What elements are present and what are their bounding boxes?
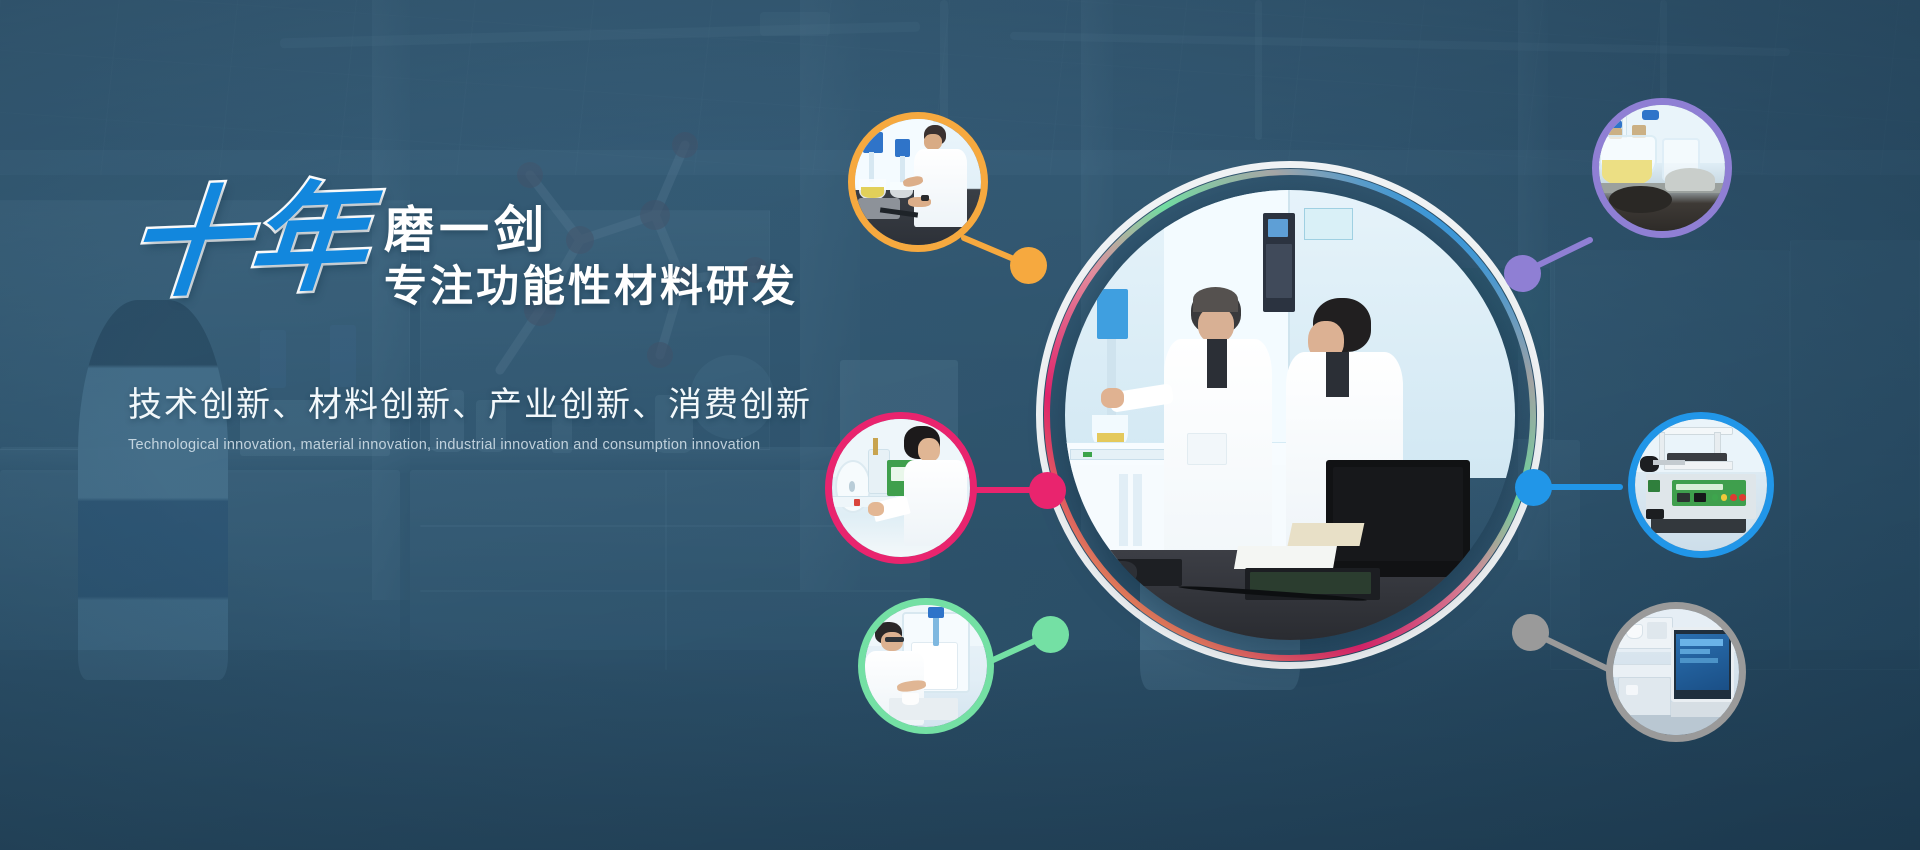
circular-photo-composition [820,60,1920,760]
satellite-photo-gray [1606,602,1746,742]
brush-calligraphy-text: 十年 [123,181,373,301]
headline-stack: 磨一剑 专注功能性材料研发 [384,186,798,313]
satellite-photo-purple [1592,98,1732,238]
subtitle-english: Technological innovation, material innov… [128,437,888,453]
main-lab-photo [1065,190,1515,640]
satellite-photo-blue [1628,412,1774,558]
node-pink [1029,472,1066,509]
hero-banner: 十年 磨一剑 专注功能性材料研发 技术创新、材料创新、产业创新、消费创新 Tec… [0,0,1920,850]
node-gray [1512,614,1549,651]
banner-copy: 十年 磨一剑 专注功能性材料研发 技术创新、材料创新、产业创新、消费创新 Tec… [128,186,888,453]
headline-secondary: 专注功能性材料研发 [384,262,798,313]
satellite-photo-green [858,598,994,734]
satellite-photo-pink [825,412,977,564]
node-blue [1515,469,1552,506]
node-orange [1010,247,1047,284]
satellite-photo-orange [848,112,988,252]
node-green [1032,616,1069,653]
headline-row: 十年 磨一剑 专注功能性材料研发 [128,186,888,313]
headline-primary: 磨一剑 [384,202,798,258]
node-purple [1504,255,1541,292]
subtitle-chinese: 技术创新、材料创新、产业创新、消费创新 [128,377,888,426]
